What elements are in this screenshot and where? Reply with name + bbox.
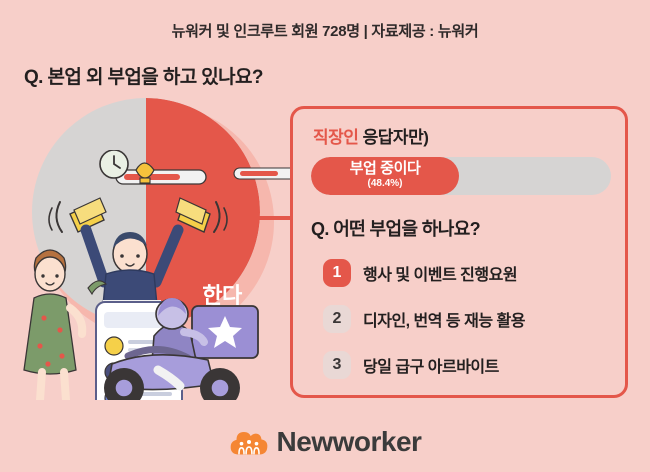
sub-question: Q. 어떤 부업을 하나요? (311, 215, 480, 241)
infographic-root: 뉴워커 및 인크루트 회원 728명 | 자료제공 : 뉴워커 Q. 본업 외 … (0, 0, 650, 472)
rank-text-2: 디자인, 번역 등 재능 활용 (363, 307, 525, 331)
bar-percent: (48.4%) (311, 179, 459, 190)
rank-text-3: 당일 급구 아르바이트 (363, 353, 499, 377)
rank-text-1: 행사 및 이벤트 진행요원 (363, 261, 517, 285)
brand-logo: Newworker (0, 426, 650, 458)
panel-title-rest: 응답자만) (358, 128, 428, 147)
pie-disc (32, 98, 260, 326)
bar-track: 부업 중이다 (48.4%) (311, 157, 611, 195)
bar-label: 부업 중이다 (311, 161, 459, 177)
list-item: 3 당일 급구 아르바이트 (323, 345, 619, 385)
rank-badge-3: 3 (323, 351, 351, 379)
rank-list: 1 행사 및 이벤트 진행요원 2 디자인, 번역 등 재능 활용 3 당일 급… (323, 253, 619, 391)
panel-title: 직장인 응답자만) (313, 123, 428, 148)
panel-title-highlight: 직장인 (313, 128, 358, 147)
rank-badge-1: 1 (323, 259, 351, 287)
detail-panel: 직장인 응답자만) 부업 중이다 (48.4%) Q. 어떤 부업을 하나요? … (290, 106, 628, 398)
pie-chart: 한다 (49.5%) (32, 98, 276, 342)
source-line: 뉴워커 및 인크루트 회원 728명 | 자료제공 : 뉴워커 (0, 20, 650, 41)
list-item: 2 디자인, 번역 등 재능 활용 (323, 299, 619, 339)
brand-name: Newworker (277, 426, 422, 458)
rank-badge-2: 2 (323, 305, 351, 333)
cloud-people-icon (229, 427, 269, 457)
page-title: Q. 본업 외 부업을 하고 있나요? (24, 62, 263, 89)
list-item: 1 행사 및 이벤트 진행요원 (323, 253, 619, 293)
bar-label-group: 부업 중이다 (48.4%) (311, 161, 459, 189)
